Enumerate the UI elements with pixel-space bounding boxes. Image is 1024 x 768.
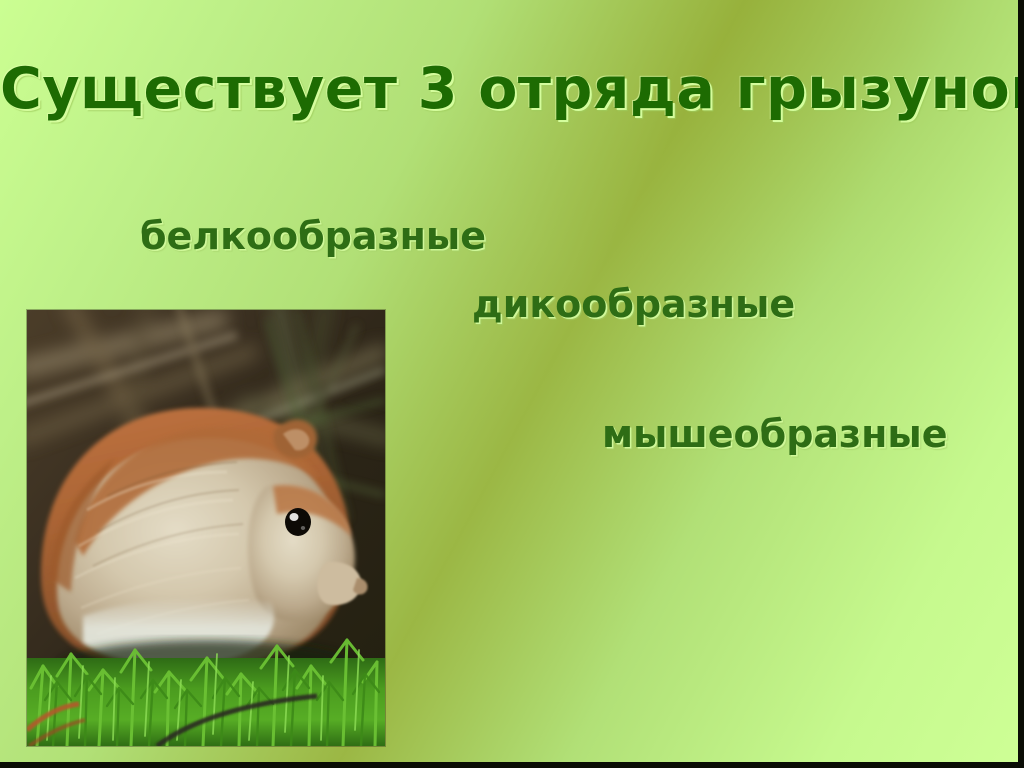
- rodent-order-item-3: мышеобразные: [602, 412, 948, 456]
- vole-illustration: [27, 310, 385, 746]
- slide-bottom-edge: [0, 762, 1024, 768]
- page-title: Существует 3 отряда грызунов:: [0, 56, 1000, 122]
- rodent-order-item-1: белкообразные: [140, 214, 486, 258]
- bank-vole-photo: [27, 310, 385, 746]
- rodent-order-item-2: дикообразные: [472, 282, 795, 326]
- slide-right-edge: [1018, 0, 1024, 768]
- presentation-slide: Существует 3 отряда грызунов: белкообраз…: [0, 0, 1024, 768]
